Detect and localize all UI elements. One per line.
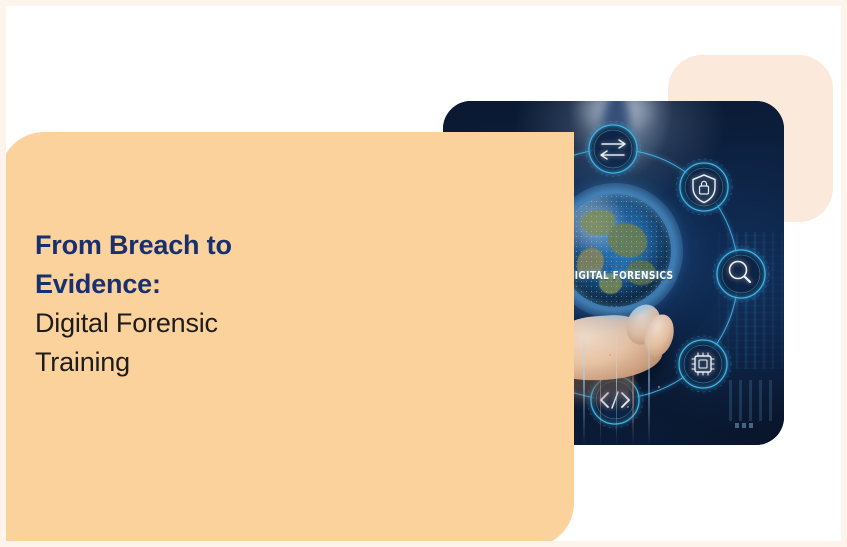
data-transfer-icon <box>586 122 641 177</box>
magnifier-icon <box>713 246 769 302</box>
shield-lock-icon <box>676 159 732 215</box>
headline-line-2: Evidence: <box>35 265 365 304</box>
slide-canvas: 0101 1010 <box>0 0 847 547</box>
globe-label: DIGITAL FORENSICS <box>567 270 664 282</box>
title-block: From Breach to Evidence: Digital Forensi… <box>35 226 365 382</box>
subhead-line-2: Training <box>35 343 365 382</box>
globe: DIGITAL FORENSICS <box>559 194 672 308</box>
headline-line-1: From Breach to <box>35 226 365 265</box>
slide-page: 0101 1010 <box>6 6 841 541</box>
corner-accent-dots <box>735 423 753 428</box>
subhead-line-1: Digital Forensic <box>35 304 365 343</box>
globe-grid <box>559 194 672 308</box>
globe-sphere <box>559 194 672 308</box>
text-panel: From Breach to Evidence: Digital Forensi… <box>6 132 574 541</box>
